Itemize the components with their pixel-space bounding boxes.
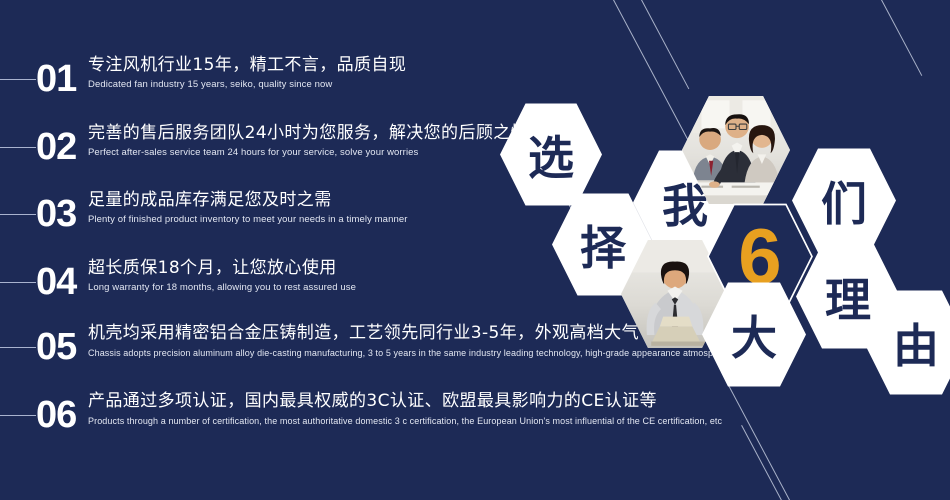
hexagon-xuan: 选 xyxy=(500,103,602,206)
hexagon-da: 大 xyxy=(702,282,806,387)
hexagon-you: 由 xyxy=(864,290,950,395)
hexagon-photo-team xyxy=(682,95,790,205)
hexagon-men: 们 xyxy=(792,148,896,253)
hexagon-cluster: 选 择 我 xyxy=(0,0,950,500)
promo-banner: 01 专注风机行业15年，精工不言，品质自现 Dedicated fan ind… xyxy=(0,0,950,500)
